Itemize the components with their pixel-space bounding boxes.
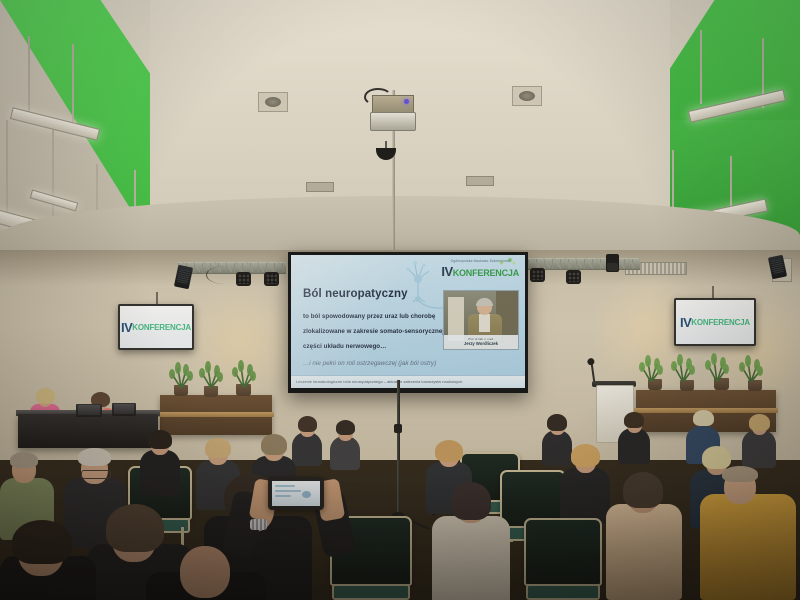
projector-status-led [404,99,409,104]
speaker-shirt [479,314,490,332]
microphone-stand-pole [397,380,400,515]
monitor-left-numeral: IV [121,320,132,335]
slide-body-line-3: części układu nerwowego… [303,343,386,350]
potted-plant-foliage [162,356,272,388]
side-monitor-left: IVKONFERENCJA [118,304,194,350]
slide-logo-word: KONFERENCJA [453,268,519,278]
attendee-hair [571,444,600,467]
attendee-hair [261,434,287,455]
attendee-hair [547,414,567,431]
side-monitor-right-screen: IVKONFERENCJA [676,300,754,344]
monitor-left-word: KONFERENCJA [132,323,191,332]
light-drop-rod [6,120,8,225]
speaker-hair [476,298,493,306]
attendee-torso [700,494,796,600]
recessed-downlight [512,86,542,106]
panelist-left-hair [36,388,55,404]
attendee-hair [106,504,164,552]
ceiling-vent [466,176,494,186]
attendee-head [180,546,230,598]
attendee-torso [432,516,510,600]
truss-bracing-right [528,258,640,268]
attendee-hair [624,412,644,428]
recessed-downlight [258,92,288,112]
attendee-hair [702,446,731,469]
attendee-hair [298,416,317,432]
chair-seat [332,584,410,600]
speaker-nameplate: Prof. dr hab. n. med. Jerzy Wordliczek [444,335,518,349]
attendee-hair [336,420,355,435]
slide-footer-bar: Leczenie farmakologiczne bólu neuropatyc… [291,375,525,388]
eyeglasses-icon [81,470,111,479]
ceiling-projector [370,112,416,131]
shelf-board [158,412,274,417]
attendee-hair [10,452,38,468]
par-can-light [566,270,581,284]
conference-hall-photo: Ogólnopolska Naukowo-Szkoleniowa IVKONFE… [0,0,800,600]
light-drop-rod [28,36,30,122]
phone-screen-line [275,490,301,492]
wristwatch [250,519,267,530]
slide-footer-text: Leczenie farmakologiczne bólu neuropatyc… [296,379,462,384]
side-monitor-left-screen: IVKONFERENCJA [120,306,192,348]
slide-video-feed: Prof. dr hab. n. med. Jerzy Wordliczek [443,290,519,350]
attendee-hair [435,440,463,462]
leaf-icon [495,256,517,268]
speaker-name: Jerzy Wordliczek [444,341,518,346]
attendee-torso [606,504,682,600]
slide-body-line-2: zlokalizowane w zakresie somato-sensoryc… [303,328,444,335]
attendee-hair [205,438,231,458]
moving-head-light [606,254,619,272]
panel-table [18,414,158,448]
attendee-hair [749,414,770,431]
attendee-torso [140,450,180,496]
ceiling-vent [306,182,334,192]
attendee-torso [560,468,610,524]
lighting-cable [206,266,243,284]
attendee-torso [618,428,650,464]
smartphone-screen[interactable] [272,481,320,506]
attendee-hair [722,466,758,482]
slide-body-line-1: to ból spowodowany przez uraz lub chorob… [303,313,435,320]
phone-screen-line [275,495,291,497]
laptop-screen [114,404,134,414]
attendee-hair [623,472,663,508]
phone-screen-line [275,485,295,487]
microphone-stand-clutch [394,424,402,433]
monitor-right-word: KONFERENCJA [691,318,750,327]
chair-back [524,518,602,586]
chair-seat [526,584,600,600]
attendee-hair [12,520,72,564]
light-drop-rod [700,30,702,104]
slide-logo-numeral: IV [441,264,452,279]
attendee-hair [78,448,111,466]
slide-conference-logo: Ogólnopolska Naukowo-Szkoleniowa IVKONFE… [441,259,519,281]
attendee-torso [742,430,776,468]
ceiling-light-fixture [30,190,79,212]
par-can-light [530,268,545,282]
side-monitor-right: IVKONFERENCJA [674,298,756,346]
slide-italic-note: …i nie pełni on roli ostrzegawczej (jak … [303,360,436,367]
attendee-hair [451,482,491,520]
attendee-torso [542,430,572,466]
laptop-screen [78,405,100,415]
potted-plant-foliage [638,350,778,382]
attendee-torso [292,432,322,466]
attendee-hair [693,410,714,426]
par-can-light [264,272,279,286]
light-drop-rod [72,44,74,122]
attendee-hair [148,430,172,449]
attendee-torso [330,436,360,470]
projection-screen: Ogólnopolska Naukowo-Szkoleniowa IVKONFE… [291,255,525,388]
monitor-right-numeral: IV [680,315,691,330]
slide-heading: Ból neuropatyczny [303,288,408,300]
phone-screen-thumbnail [302,491,311,498]
